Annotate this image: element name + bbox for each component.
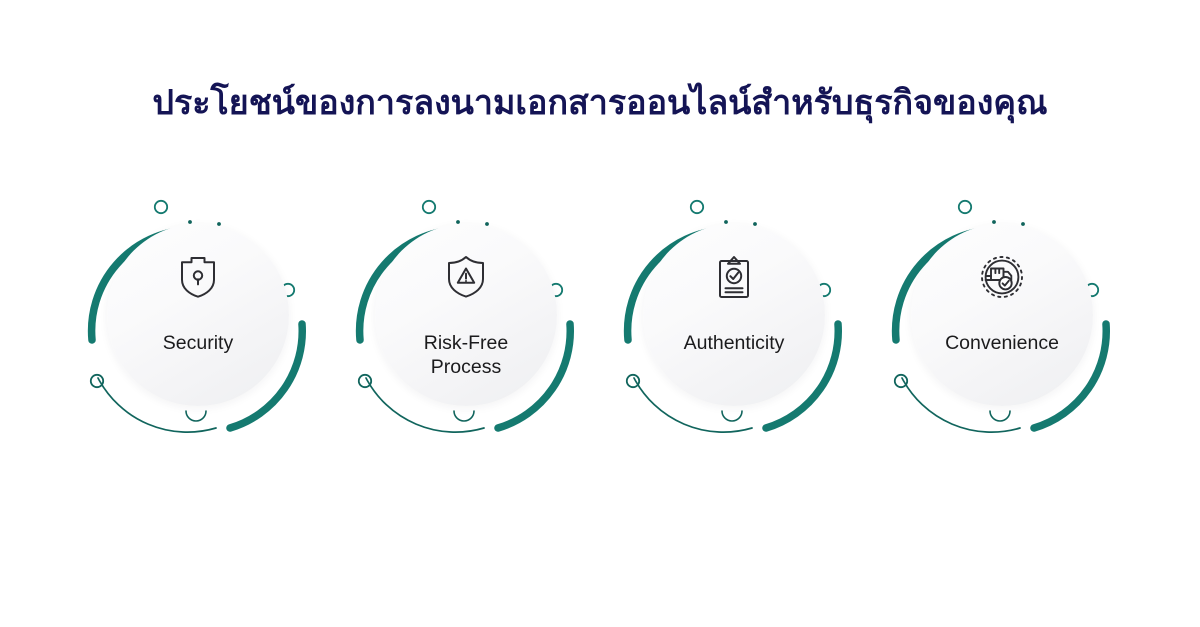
ring-bottom-left [895,375,907,387]
ring-top [155,201,167,213]
arc-notch-bottom [186,411,206,421]
card-label-line: Security [92,332,304,356]
card-label: Risk-Free Process [360,332,572,380]
shield-lock-icon [107,254,289,300]
card-label: Convenience [896,332,1108,356]
card-label: Authenticity [628,332,840,356]
arc-notch-bottom [454,411,474,421]
card-disc [107,224,289,406]
benefit-cards-row: Security [0,182,1200,472]
ring-top [691,201,703,213]
clipboard-check-icon [643,254,825,300]
delivery-clock-check-icon [911,254,1093,300]
ring-top [959,201,971,213]
card-label-line: Authenticity [628,332,840,356]
card-label: Security [92,332,304,356]
card-label-line: Convenience [896,332,1108,356]
card-label-line: Process [360,356,572,380]
arc-notch-bottom [722,411,742,421]
card-disc [911,224,1093,406]
benefit-card-risk-free-process[interactable]: Risk-Free Process [332,182,600,472]
shield-warning-icon [375,254,557,300]
benefit-card-security[interactable]: Security [64,182,332,472]
benefit-card-convenience[interactable]: Convenience [868,182,1136,472]
card-disc [643,224,825,406]
page-title: ประโยชน์ของการลงนามเอกสารออนไลน์สำหรับธุ… [0,82,1200,125]
arc-notch-bottom [990,411,1010,421]
infographic-page: ประโยชน์ของการลงนามเอกสารออนไลน์สำหรับธุ… [0,0,1200,627]
card-label-line: Risk-Free [360,332,572,356]
ring-top [423,201,435,213]
ring-bottom-left [91,375,103,387]
benefit-card-authenticity[interactable]: Authenticity [600,182,868,472]
ring-bottom-left [627,375,639,387]
